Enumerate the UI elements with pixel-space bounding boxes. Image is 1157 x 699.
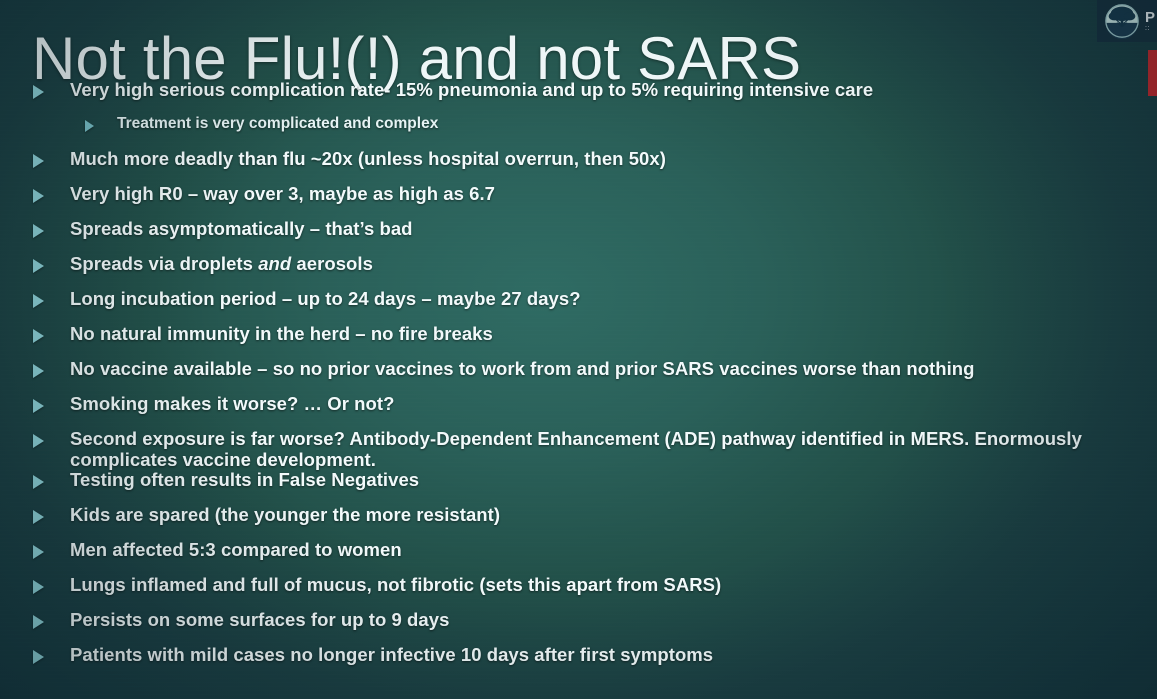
bullet-item: Patients with mild cases no longer infec… bbox=[0, 645, 1157, 680]
triangle-bullet-icon bbox=[33, 224, 44, 238]
triangle-bullet-icon bbox=[33, 189, 44, 203]
triangle-bullet-icon bbox=[33, 650, 44, 664]
bullet-item: Spreads asymptomatically – that’s bad bbox=[0, 219, 1157, 254]
triangle-bullet-icon bbox=[33, 510, 44, 524]
sub-bullet-item: Treatment is very complicated and comple… bbox=[0, 115, 1157, 149]
bullet-text: Testing often results in False Negatives bbox=[44, 470, 419, 491]
bullet-text: Much more deadly than flu ~20x (unless h… bbox=[44, 149, 666, 170]
triangle-bullet-icon bbox=[33, 364, 44, 378]
bullet-text: Smoking makes it worse? … Or not? bbox=[44, 394, 394, 415]
bullet-list: Very high serious complication rate- 15%… bbox=[0, 80, 1157, 680]
bullet-item: Much more deadly than flu ~20x (unless h… bbox=[0, 149, 1157, 184]
bullet-text: No vaccine available – so no prior vacci… bbox=[44, 359, 975, 380]
organization-logo: P :: bbox=[1097, 0, 1157, 42]
bullet-item: Spreads via droplets and aerosols bbox=[0, 254, 1157, 289]
bullet-text: Spreads via droplets and aerosols bbox=[44, 254, 373, 275]
bullet-item: Testing often results in False Negatives bbox=[0, 470, 1157, 505]
logo-tagline: :: bbox=[1145, 25, 1155, 32]
triangle-bullet-icon bbox=[33, 434, 44, 448]
bullet-text: Patients with mild cases no longer infec… bbox=[44, 645, 713, 666]
triangle-bullet-icon bbox=[33, 329, 44, 343]
bullet-text: Spreads asymptomatically – that’s bad bbox=[44, 219, 413, 240]
bullet-item: Long incubation period – up to 24 days –… bbox=[0, 289, 1157, 324]
logo-wordmark: P :: bbox=[1141, 10, 1157, 32]
bullet-text: Treatment is very complicated and comple… bbox=[94, 115, 438, 132]
bullet-item: Persists on some surfaces for up to 9 da… bbox=[0, 610, 1157, 645]
bullet-item: Second exposure is far worse? Antibody-D… bbox=[0, 429, 1157, 470]
bullet-item: Lungs inflamed and full of mucus, not fi… bbox=[0, 575, 1157, 610]
bullet-text: Long incubation period – up to 24 days –… bbox=[44, 289, 581, 310]
triangle-bullet-icon bbox=[33, 259, 44, 273]
triangle-bullet-icon bbox=[33, 475, 44, 489]
bullet-item: Very high R0 – way over 3, maybe as high… bbox=[0, 184, 1157, 219]
triangle-bullet-icon bbox=[33, 545, 44, 559]
bullet-item: No vaccine available – so no prior vacci… bbox=[0, 359, 1157, 394]
presentation-slide: Not the Flu!(!) and not SARS P :: bbox=[0, 0, 1157, 699]
tree-emblem-icon bbox=[1103, 2, 1141, 40]
bullet-text: Kids are spared (the younger the more re… bbox=[44, 505, 500, 526]
triangle-bullet-icon bbox=[33, 399, 44, 413]
triangle-bullet-icon bbox=[33, 154, 44, 168]
triangle-bullet-icon bbox=[33, 85, 44, 99]
triangle-bullet-icon bbox=[33, 580, 44, 594]
triangle-bullet-icon bbox=[85, 120, 94, 132]
bullet-text: Persists on some surfaces for up to 9 da… bbox=[44, 610, 449, 631]
bullet-text: Very high R0 – way over 3, maybe as high… bbox=[44, 184, 495, 205]
bullet-item: No natural immunity in the herd – no fir… bbox=[0, 324, 1157, 359]
bullet-item: Very high serious complication rate- 15%… bbox=[0, 80, 1157, 115]
bullet-item: Men affected 5:3 compared to women bbox=[0, 540, 1157, 575]
logo-wordmark-text: P bbox=[1145, 10, 1155, 26]
bullet-item: Kids are spared (the younger the more re… bbox=[0, 505, 1157, 540]
bullet-text: Lungs inflamed and full of mucus, not fi… bbox=[44, 575, 721, 596]
bullet-text: Men affected 5:3 compared to women bbox=[44, 540, 402, 561]
bullet-text: Very high serious complication rate- 15%… bbox=[44, 80, 873, 101]
triangle-bullet-icon bbox=[33, 615, 44, 629]
bullet-item: Smoking makes it worse? … Or not? bbox=[0, 394, 1157, 429]
bullet-text: No natural immunity in the herd – no fir… bbox=[44, 324, 493, 345]
triangle-bullet-icon bbox=[33, 294, 44, 308]
bullet-text: Second exposure is far worse? Antibody-D… bbox=[44, 429, 1157, 470]
